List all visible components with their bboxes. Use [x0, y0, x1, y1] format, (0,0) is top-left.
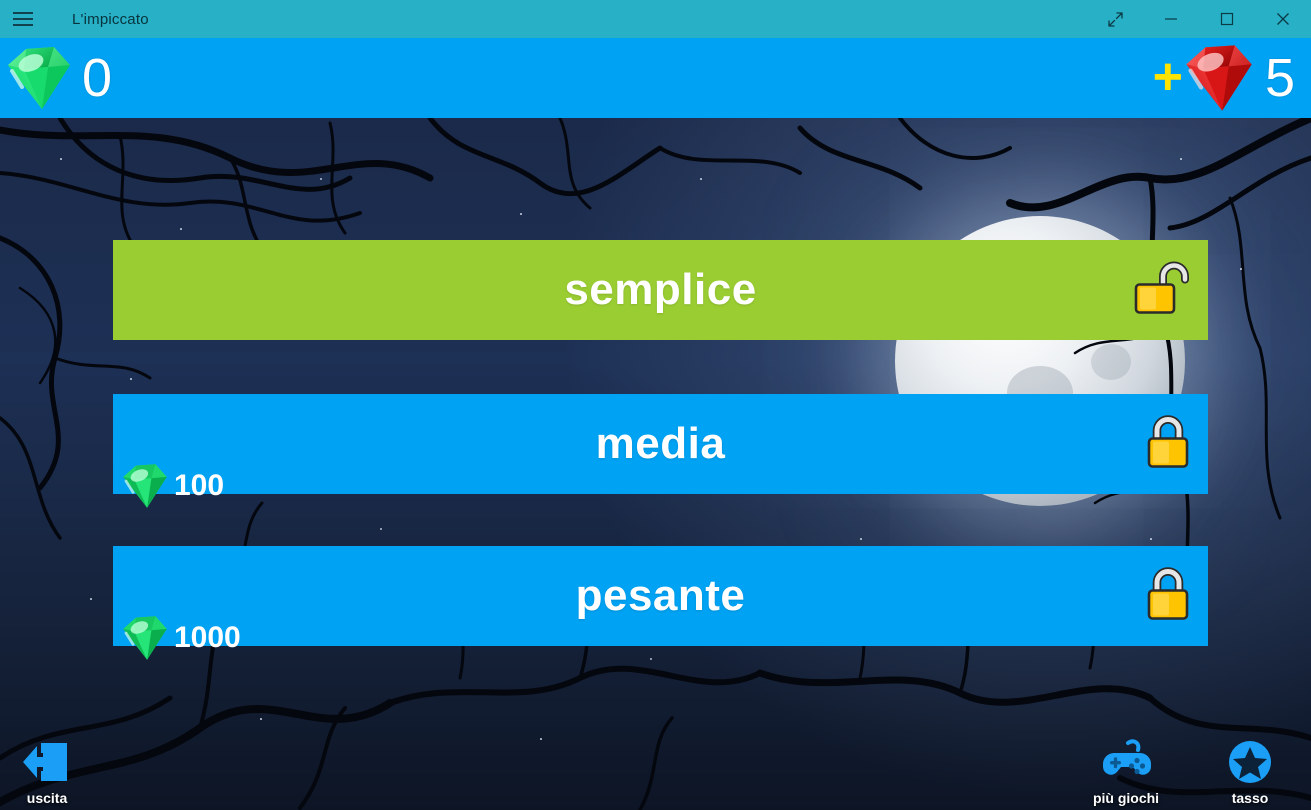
window-controls [1087, 0, 1311, 38]
difficulty-cost-value: 100 [174, 471, 224, 501]
bottom-toolbar: uscita più giochi tasso [0, 714, 1311, 810]
difficulty-label: semplice [564, 265, 756, 315]
green-gem-icon [119, 612, 171, 664]
title-bar: L'impiccato [0, 0, 1311, 38]
difficulty-menu: semplice media [0, 0, 1311, 810]
rate-label: tasso [1232, 790, 1269, 806]
minimize-icon[interactable] [1143, 0, 1199, 38]
unlocked-padlock-icon [1130, 260, 1192, 321]
difficulty-button-media[interactable]: media 100 [113, 394, 1208, 494]
difficulty-label: pesante [576, 571, 746, 621]
score-bar: 0 + [0, 38, 1311, 118]
exit-arrow-icon [21, 737, 73, 787]
difficulty-button-semplice[interactable]: semplice [113, 240, 1208, 340]
locked-padlock-icon [1144, 566, 1192, 627]
more-games-button[interactable]: più giochi [1071, 737, 1181, 806]
green-gem-icon [2, 41, 76, 115]
close-icon[interactable] [1255, 0, 1311, 38]
more-games-label: più giochi [1093, 790, 1159, 806]
green-gem-icon [119, 460, 171, 512]
rate-button[interactable]: tasso [1195, 737, 1305, 806]
game-window: L'impiccato [0, 0, 1311, 810]
green-gem-count: 0 [82, 51, 112, 105]
page-title: L'impiccato [72, 11, 149, 28]
hamburger-icon[interactable] [0, 0, 46, 38]
locked-padlock-icon [1144, 414, 1192, 475]
difficulty-button-pesante[interactable]: pesante 1000 [113, 546, 1208, 646]
maximize-icon[interactable] [1199, 0, 1255, 38]
star-circle-icon [1225, 737, 1275, 787]
green-gem-score: 0 [2, 38, 112, 118]
gamepad-icon [1098, 737, 1154, 787]
difficulty-cost: 100 [119, 460, 224, 512]
diagonal-arrows-icon[interactable] [1087, 0, 1143, 38]
red-gem-count: 5 [1265, 51, 1295, 105]
exit-label: uscita [27, 790, 67, 806]
red-gem-icon [1179, 39, 1259, 117]
difficulty-cost: 1000 [119, 612, 241, 664]
difficulty-label: media [596, 419, 726, 469]
difficulty-cost-value: 1000 [174, 623, 241, 653]
exit-button[interactable]: uscita [0, 737, 102, 806]
red-gem-purchase[interactable]: + [1153, 38, 1295, 118]
